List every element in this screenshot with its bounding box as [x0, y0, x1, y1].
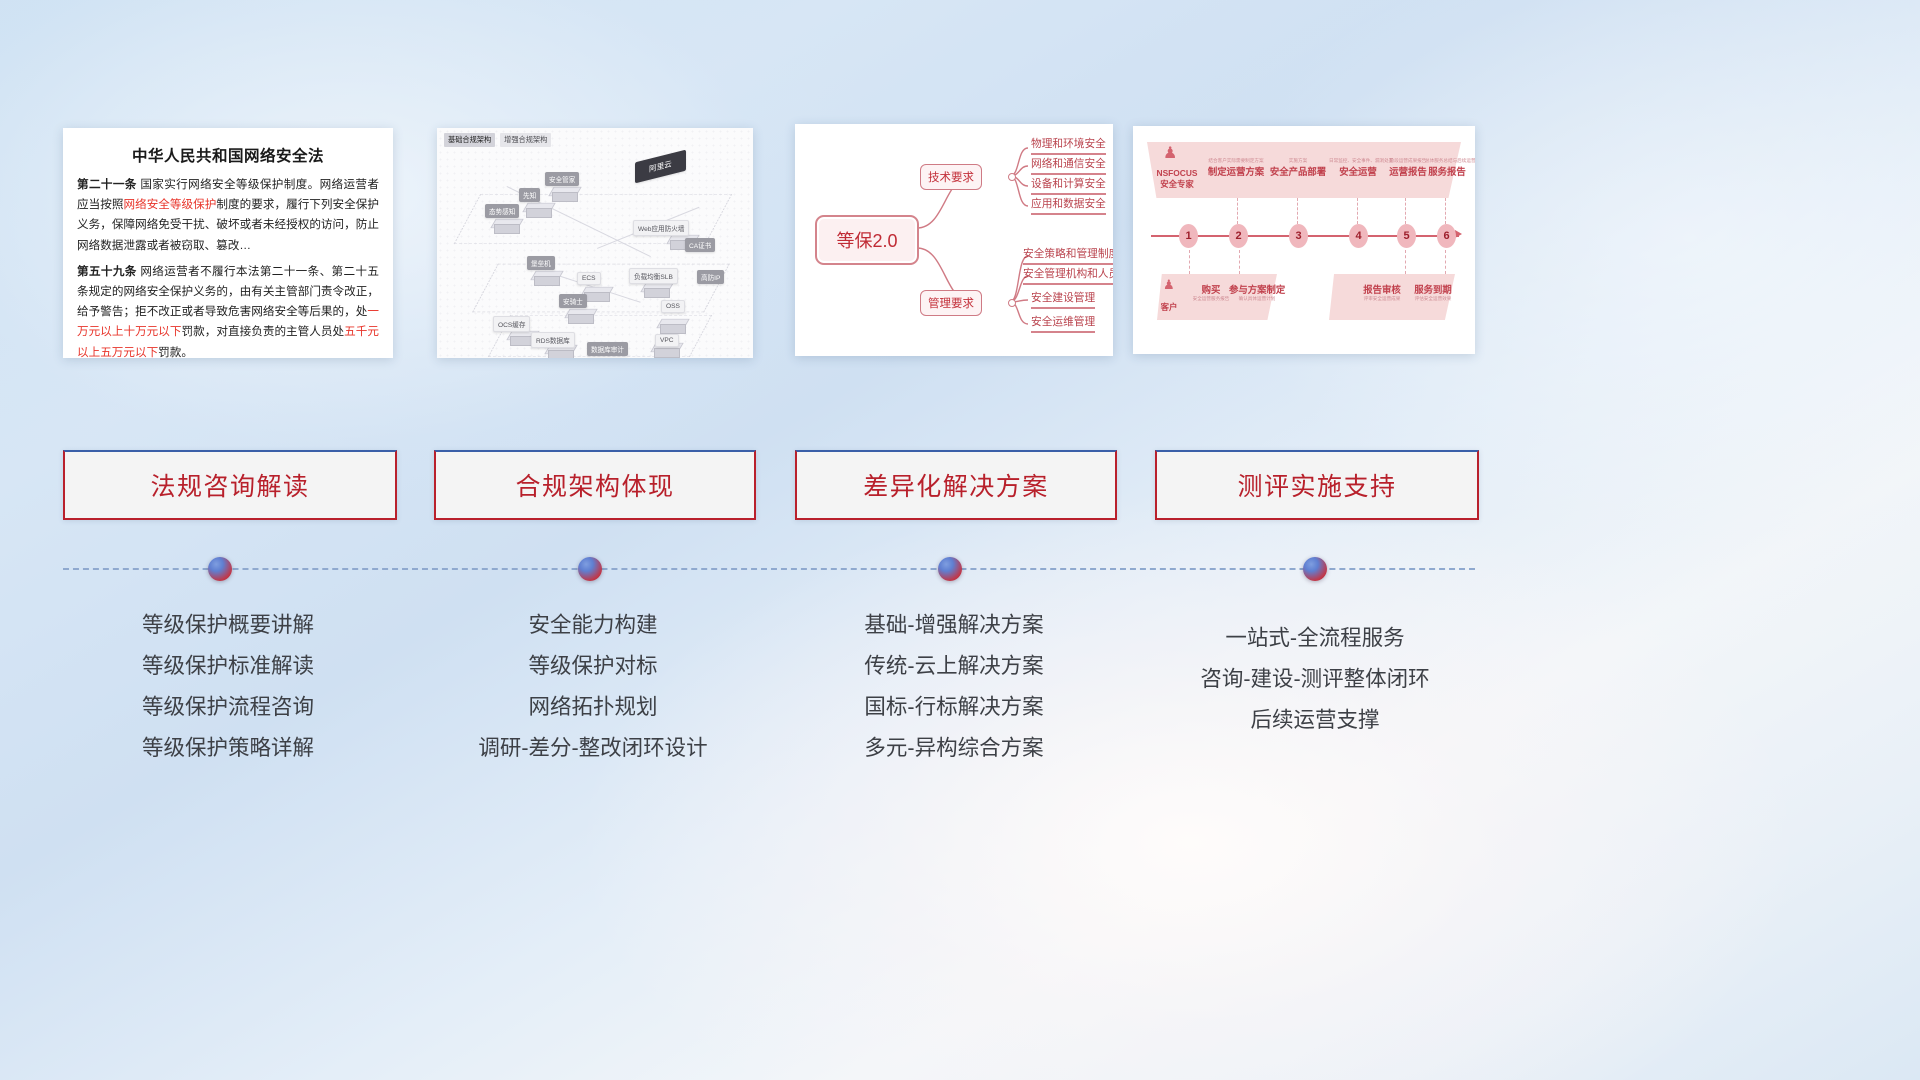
tab-enhanced-compliance[interactable]: 增强合规架构 [500, 133, 551, 147]
brand-name: NSFOCUS [1149, 168, 1205, 179]
tab-basic-compliance[interactable]: 基础合规架构 [444, 133, 495, 147]
timeline-arrow-icon [1455, 230, 1462, 238]
mindmap-leaf-network-comm: 网络和通信安全 [1031, 156, 1106, 175]
mindmap-root-node: 等保2.0 [815, 215, 919, 265]
mindmap-branch-management: 管理要求 [920, 290, 982, 316]
list-item: 后续运营支撑 [1155, 700, 1475, 741]
column-title-box-2[interactable]: 合规架构体现 [434, 450, 756, 520]
mindmap-leaf-org-personnel: 安全管理机构和人员 [1023, 266, 1113, 285]
rail-bullet-2[interactable] [578, 557, 602, 581]
list-item: 多元-异构综合方案 [795, 728, 1113, 769]
mindmap-leaf-app-data: 应用和数据安全 [1031, 196, 1106, 215]
bottom-step-1-sub: 安全运营服务报告 [1191, 296, 1231, 302]
timeline-node-4: 4 [1349, 224, 1368, 248]
node-cube [525, 200, 551, 220]
timeline-node-5: 5 [1397, 224, 1416, 248]
timeline-bottom-step-review: 报告审核 评审安全运营成果 [1357, 282, 1407, 302]
card-mindmap: 等保2.0 技术要求 管理要求 物理和环境安全 网络和通信安全 设备和计算安全 … [795, 124, 1113, 356]
step-3-title: 安全产品部署 [1269, 164, 1327, 178]
timeline-bottom-step-plan: 参与方案制定 确认具体运营计划 [1229, 282, 1285, 302]
column-list-1: 等级保护概要讲解 等级保护标准解读 等级保护流程咨询 等级保护策略详解 [63, 605, 393, 769]
node-label-xianzhi: 先知 [519, 188, 540, 202]
column-title-2: 合规架构体现 [515, 467, 674, 503]
bottom-step-4-title: 服务到期 [1409, 282, 1457, 296]
rail-bullet-1[interactable] [208, 557, 232, 581]
column-title-4: 测评实施支持 [1237, 467, 1396, 503]
timeline-tick [1445, 198, 1446, 224]
list-item: 网络拓扑规划 [434, 687, 752, 728]
brand-subtitle: 安全专家 [1149, 179, 1205, 190]
timeline-step-3: 实施方案 安全产品部署 [1269, 158, 1327, 178]
timeline-bottom-step-purchase: 购买 安全运营服务报告 [1191, 282, 1231, 302]
node-label-slb: 负载均衡SLB [629, 268, 678, 284]
card-law-text: 中华人民共和国网络安全法 第二十一条 国家实行网络安全等级保护制度。网络运营者应… [63, 128, 393, 358]
list-item: 等级保护策略详解 [63, 728, 393, 769]
node-label-oss: OSS [661, 300, 685, 313]
node-cube [583, 284, 609, 304]
node-label-ocs-cache: OCS缓存 [493, 316, 530, 332]
timeline-brand: NSFOCUS 安全专家 [1149, 168, 1205, 190]
bottom-step-3-title: 报告审核 [1357, 282, 1407, 296]
node-label-ecs: ECS [577, 272, 601, 285]
node-cube [567, 306, 593, 326]
mindmap-branch-technical: 技术要求 [920, 164, 982, 190]
mindmap-leaf-physical-env: 物理和环境安全 [1031, 136, 1106, 155]
timeline-bottom-step-expiry: 服务到期 评估安全运营效果 [1409, 282, 1457, 302]
node-label-db-audit: 数据库审计 [587, 342, 628, 356]
architecture-canvas: 基础合规架构 增强合规架构 阿里云 安全管家 先知 态势感知 堡垒机 安 [437, 128, 753, 358]
bottom-step-3-sub: 评审安全运营成果 [1357, 296, 1407, 302]
timeline-tick [1445, 250, 1446, 274]
column-title-box-1[interactable]: 法规咨询解读 [63, 450, 397, 520]
bottom-step-4-sub: 评估安全运营效果 [1409, 296, 1457, 302]
list-item: 国标-行标解决方案 [795, 687, 1113, 728]
node-label-rds: RDS数据库 [531, 332, 575, 348]
slide-canvas: 中华人民共和国网络安全法 第二十一条 国家实行网络安全等级保护制度。网络运营者应… [0, 0, 1920, 1080]
timeline-step-4: 日常监控、安全事件、漏洞处置 安全运营 [1329, 158, 1387, 178]
column-title-box-3[interactable]: 差异化解决方案 [795, 450, 1117, 520]
card-service-timeline: ♟ NSFOCUS 安全专家 结合客户实际需要制定方案 制定运营方案 实施方案 … [1133, 126, 1475, 354]
list-item: 咨询-建设-测评整体闭环 [1155, 659, 1475, 700]
timeline-step-2: 结合客户实际需要制定方案 制定运营方案 [1207, 158, 1265, 178]
node-cube [659, 316, 685, 336]
column-title-3: 差异化解决方案 [863, 467, 1049, 503]
node-label-anti-ddos-ip: 高防IP [697, 270, 724, 284]
list-item: 等级保护标准解读 [63, 646, 393, 687]
law-title: 中华人民共和国网络安全法 [77, 144, 379, 166]
step-4-title: 安全运营 [1329, 164, 1387, 178]
timeline-tick [1239, 250, 1240, 274]
timeline-tick [1189, 250, 1190, 274]
customer-label: 客户 [1149, 302, 1189, 313]
node-cube [493, 216, 519, 236]
law-document: 中华人民共和国网络安全法 第二十一条 国家实行网络安全等级保护制度。网络运营者应… [63, 128, 393, 358]
node-cube [551, 184, 577, 204]
list-item: 安全能力构建 [434, 605, 752, 646]
article-21-label: 第二十一条 [77, 178, 137, 191]
node-label-bastion-host: 堡垒机 [527, 256, 555, 270]
node-label-ca-certificate: CA证书 [685, 238, 715, 252]
node-label-security-steward: 安全管家 [545, 172, 579, 186]
mindmap-leaf-device-compute: 设备和计算安全 [1031, 176, 1106, 195]
bottom-step-1-title: 购买 [1191, 282, 1231, 296]
node-cube [533, 268, 559, 288]
card-architecture-diagram: 基础合规架构 增强合规架构 阿里云 安全管家 先知 态势感知 堡垒机 安 [437, 128, 753, 358]
bottom-step-2-sub: 确认具体运营计划 [1229, 296, 1285, 302]
customer-label-group: 客户 [1149, 302, 1189, 313]
customer-person-icon: ♟ [1163, 278, 1175, 291]
mindmap-leaf-policy-system: 安全策略和管理制度 [1023, 246, 1113, 265]
timeline-node-1: 1 [1179, 224, 1198, 248]
timeline-node-2: 2 [1229, 224, 1248, 248]
mindmap-leaf-construction-mgmt: 安全建设管理 [1031, 290, 1095, 309]
bottom-step-2-title: 参与方案制定 [1229, 282, 1285, 296]
architecture-tabs: 基础合规架构 增强合规架构 [444, 133, 551, 147]
timeline-tick [1405, 250, 1406, 274]
article-59-text-b: 罚款，对直接负责的主管人员处 [182, 325, 345, 338]
mindmap-collapse-dot[interactable] [1008, 299, 1016, 307]
column-list-4: 一站式-全流程服务 咨询-建设-测评整体闭环 后续运营支撑 [1155, 618, 1475, 741]
node-label-vpc: VPC [655, 334, 679, 347]
timeline-node-3: 3 [1289, 224, 1308, 248]
column-title-box-4[interactable]: 测评实施支持 [1155, 450, 1479, 520]
timeline-tick [1237, 198, 1238, 224]
list-item: 传统-云上解决方案 [795, 646, 1113, 687]
column-title-1: 法规咨询解读 [150, 467, 309, 503]
rail-bullet-3[interactable] [938, 557, 962, 581]
timeline-tick [1357, 198, 1358, 224]
timeline-tick [1297, 198, 1298, 224]
step-6-title: 服务报告 [1425, 164, 1469, 178]
rail-bullet-4[interactable] [1303, 557, 1327, 581]
timeline-canvas: ♟ NSFOCUS 安全专家 结合客户实际需要制定方案 制定运营方案 实施方案 … [1133, 126, 1475, 354]
list-item: 一站式-全流程服务 [1155, 618, 1475, 659]
timeline-tick [1405, 198, 1406, 224]
list-item: 等级保护概要讲解 [63, 605, 393, 646]
timeline-node-6: 6 [1437, 224, 1456, 248]
timeline-rail [63, 568, 1475, 570]
expert-person-icon: ♟ [1163, 146, 1177, 162]
law-body: 第二十一条 国家实行网络安全等级保护制度。网络运营者应当按照网络安全等级保护制度… [77, 175, 379, 358]
article-21-highlight: 网络安全等级保护 [123, 198, 216, 211]
mindmap-canvas: 等保2.0 技术要求 管理要求 物理和环境安全 网络和通信安全 设备和计算安全 … [795, 124, 1113, 356]
node-label-waf: Web应用防火墙 [633, 220, 689, 236]
article-59-text-c: 罚款。 [158, 346, 193, 358]
timeline-step-6: 总体服务总结与后续运营建议 服务报告 [1425, 158, 1469, 178]
node-label-situation-awareness: 态势感知 [485, 204, 519, 218]
step-2-title: 制定运营方案 [1207, 164, 1265, 178]
list-item: 调研-差分-整改闭环设计 [434, 728, 752, 769]
article-59-label: 第五十九条 [77, 265, 137, 278]
list-item: 基础-增强解决方案 [795, 605, 1113, 646]
list-item: 等级保护流程咨询 [63, 687, 393, 728]
column-list-2: 安全能力构建 等级保护对标 网络拓扑规划 调研-差分-整改闭环设计 [434, 605, 752, 769]
column-list-3: 基础-增强解决方案 传统-云上解决方案 国标-行标解决方案 多元-异构综合方案 [795, 605, 1113, 769]
mindmap-leaf-ops-mgmt: 安全运维管理 [1031, 314, 1095, 333]
mindmap-collapse-dot[interactable] [1008, 173, 1016, 181]
node-label-anqishi: 安骑士 [559, 294, 587, 308]
list-item: 等级保护对标 [434, 646, 752, 687]
